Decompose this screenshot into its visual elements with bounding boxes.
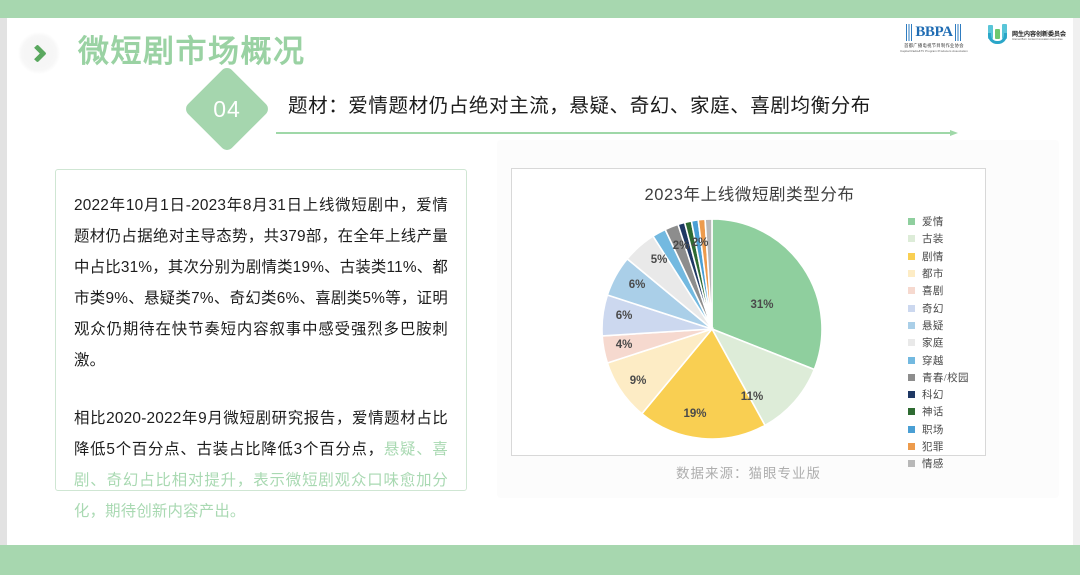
legend-swatch-icon <box>908 357 915 364</box>
top-band <box>0 0 1080 18</box>
legend-swatch-icon <box>908 339 915 346</box>
bottom-band <box>0 545 1080 575</box>
legend-swatch-icon <box>908 408 915 415</box>
logo-group: BBPA 首都广播电视节目制作业协会 Capital Radio&TV Prog… <box>895 22 1066 53</box>
bbpa-logo: BBPA 首都广播电视节目制作业协会 Capital Radio&TV Prog… <box>895 22 973 53</box>
legend-label: 科幻 <box>922 387 944 402</box>
pie-slice-label: 6% <box>616 310 633 322</box>
innovation-cn-name: 网生内容创新委员会 <box>1012 29 1066 38</box>
legend-item[interactable]: 喜剧 <box>908 282 1000 299</box>
chevron-right-icon <box>18 32 60 74</box>
section-subtitle: 题材：爱情题材仍占绝对主流，悬疑、奇幻、家庭、喜剧均衡分布 <box>288 89 871 118</box>
legend-label: 爱情 <box>922 214 944 229</box>
legend-item[interactable]: 青春/校园 <box>908 369 1000 386</box>
pie-slice-label: 11% <box>741 391 763 403</box>
legend-item[interactable]: 奇幻 <box>908 299 1000 316</box>
chart-title: 2023年上线微短剧类型分布 <box>512 181 987 205</box>
legend-swatch-icon <box>908 322 915 329</box>
legend-label: 都市 <box>922 266 944 281</box>
legend-item[interactable]: 穿越 <box>908 351 1000 368</box>
pie-slice-label: 4% <box>616 339 633 351</box>
innovation-committee-logo: 网生内容创新委员会 Internet Born Content Innovati… <box>987 24 1066 46</box>
pie-slice-label: 19% <box>683 408 706 420</box>
pie-slice-label: 9% <box>630 375 647 387</box>
page-title: 微短剧市场概况 <box>78 29 306 75</box>
chart-source: 数据来源：猫眼专业版 <box>497 462 1000 482</box>
bbpa-en-name: Capital Radio&TV Program Producers Assoc… <box>897 49 971 53</box>
legend-label: 家庭 <box>922 335 944 350</box>
legend-item[interactable]: 悬疑 <box>908 317 1000 334</box>
chart-legend: 爱情古装剧情都市喜剧奇幻悬疑家庭穿越青春/校园科幻神话职场犯罪情感 <box>908 213 1000 472</box>
section-header: 04 题材：爱情题材仍占绝对主流，悬疑、奇幻、家庭、喜剧均衡分布 <box>196 78 996 138</box>
chart-panel: 2023年上线微短剧类型分布 31%11%19%9%4%6%6%5%2%2% 爱… <box>497 140 1059 498</box>
slide: 微短剧市场概况 BBPA 首都广播电视节目制作业协会 Capital Radio… <box>0 0 1080 575</box>
pie-slices <box>600 217 824 441</box>
legend-swatch-icon <box>908 443 915 450</box>
legend-item[interactable]: 爱情 <box>908 213 1000 230</box>
slide-header: 微短剧市场概况 BBPA 首都广播电视节目制作业协会 Capital Radio… <box>0 18 1080 80</box>
summary-paragraph-2: 相比2020-2022年9月微短剧研究报告，爱情题材占比降低5个百分点、古装占比… <box>74 403 448 527</box>
legend-swatch-icon <box>908 305 915 312</box>
legend-label: 奇幻 <box>922 301 944 316</box>
legend-item[interactable]: 职场 <box>908 421 1000 438</box>
legend-label: 古装 <box>922 231 944 246</box>
legend-item[interactable]: 古装 <box>908 230 1000 247</box>
legend-item[interactable]: 犯罪 <box>908 438 1000 455</box>
legend-label: 职场 <box>922 422 944 437</box>
legend-item[interactable]: 科幻 <box>908 386 1000 403</box>
legend-label: 青春/校园 <box>922 370 969 385</box>
summary-text-card: 2022年10月1日-2023年8月31日上线微短剧中，爱情题材仍占据绝对主导态… <box>55 169 467 491</box>
pie-slice-label: 5% <box>651 254 668 266</box>
pie-chart: 31%11%19%9%4%6%6%5%2%2% <box>600 217 824 441</box>
pie-slice-label: 6% <box>629 279 646 291</box>
bbpa-mark-icon: BBPA <box>895 22 973 42</box>
pie-slice-label: 31% <box>750 299 773 311</box>
legend-swatch-icon <box>908 270 915 277</box>
left-edge-strip <box>0 18 7 545</box>
innovation-en-name: Internet Born Content Innovation Committ… <box>1012 38 1066 41</box>
legend-swatch-icon <box>908 253 915 260</box>
legend-item[interactable]: 神话 <box>908 403 1000 420</box>
chart-card: 2023年上线微短剧类型分布 31%11%19%9%4%6%6%5%2%2% 爱… <box>511 168 986 456</box>
legend-item[interactable]: 剧情 <box>908 248 1000 265</box>
legend-swatch-icon <box>908 218 915 225</box>
section-underline-arrow-icon <box>276 128 958 138</box>
pie-slice-label: 2% <box>673 240 690 252</box>
legend-item[interactable]: 都市 <box>908 265 1000 282</box>
legend-label: 穿越 <box>922 353 944 368</box>
legend-label: 神话 <box>922 404 944 419</box>
legend-label: 喜剧 <box>922 283 944 298</box>
bbpa-wordmark: BBPA <box>915 24 952 41</box>
legend-swatch-icon <box>908 374 915 381</box>
pie-slice-label: 2% <box>692 237 709 249</box>
right-edge-strip <box>1073 18 1080 545</box>
section-number: 04 <box>196 78 258 140</box>
legend-swatch-icon <box>908 426 915 433</box>
legend-swatch-icon <box>908 391 915 398</box>
legend-label: 犯罪 <box>922 439 944 454</box>
legend-item[interactable]: 家庭 <box>908 334 1000 351</box>
innovation-mark-icon <box>987 24 1009 46</box>
legend-label: 悬疑 <box>922 318 944 333</box>
legend-swatch-icon <box>908 235 915 242</box>
legend-label: 剧情 <box>922 249 944 264</box>
legend-swatch-icon <box>908 287 915 294</box>
summary-paragraph-1: 2022年10月1日-2023年8月31日上线微短剧中，爱情题材仍占据绝对主导态… <box>74 190 448 376</box>
